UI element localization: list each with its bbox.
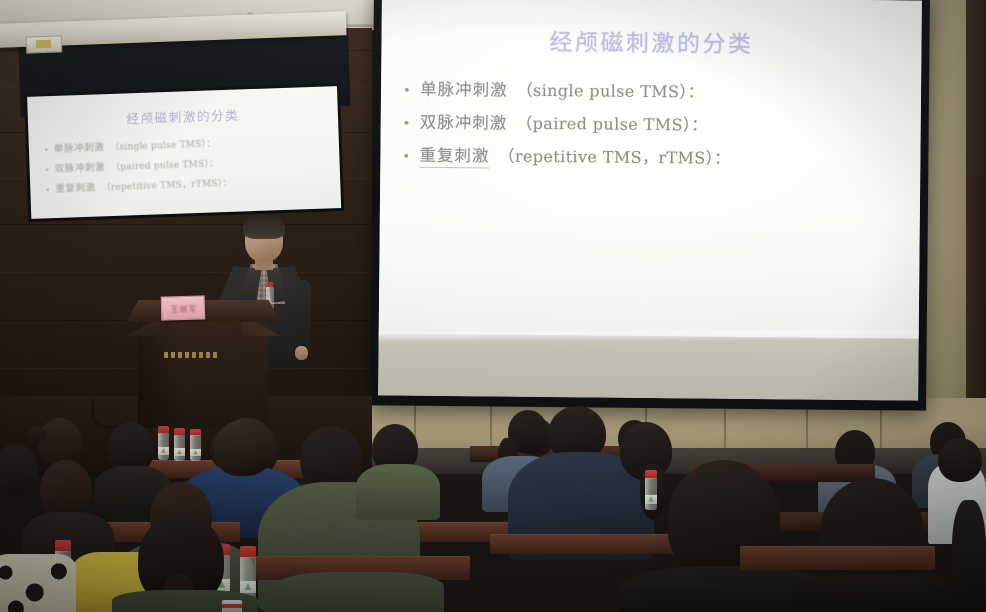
bullet-3-en: （repetitive TMS，rTMS）： [498, 143, 730, 169]
water-bottle [645, 470, 657, 510]
bullet-side-3-en: （repetitive TMS，rTMS）： [101, 176, 231, 194]
audience-body [952, 500, 986, 612]
slide-bullet-2: • 双脉冲刺激 （paired pulse TMS）： [403, 109, 903, 138]
bullet-marker: • [46, 165, 49, 174]
slide-content-main: 经颅磁刺激的分类 • 单脉冲刺激 （single pulse TMS）： • 双… [379, 0, 922, 349]
audience-area [0, 404, 986, 612]
slide-bullet-list: • 单脉冲刺激 （single pulse TMS）： • 双脉冲刺激 （pai… [402, 76, 903, 182]
audience-body [356, 464, 440, 520]
bullet-side-1-en: （single pulse TMS）： [110, 136, 215, 153]
audience-body-front-green [274, 572, 444, 612]
bullet-marker: • [45, 145, 48, 154]
slide-bullet-1: • 单脉冲刺激 （single pulse TMS）： [403, 76, 903, 105]
bullet-marker: • [402, 151, 410, 164]
lecture-hall-photo: 经颅磁刺激的分类 • 单脉冲刺激 （single pulse TMS）： • 双… [0, 0, 986, 612]
bullet-marker: • [46, 185, 49, 194]
water-bottle [174, 428, 185, 461]
audience-head [938, 438, 982, 482]
audience-body-foreground-woman [792, 574, 962, 612]
slide-title-side: 经颅磁刺激的分类 [28, 101, 338, 131]
bullet-marker: • [403, 85, 411, 98]
name-card-text: 王继军 [162, 303, 206, 315]
screen-unlit-band [378, 333, 919, 400]
bullet-side-1-cn: 单脉冲刺激 [54, 139, 105, 155]
bullet-marker: • [403, 118, 411, 131]
speaker-hair [243, 215, 285, 239]
desk-front-row-b [740, 546, 935, 570]
speaker-hand [295, 346, 308, 360]
audience-hair-bun [28, 426, 46, 442]
slide-bullet-3: • 重复刺激 （repetitive TMS，rTMS）： [402, 142, 902, 173]
bullet-2-cn: 双脉冲刺激 [420, 109, 508, 134]
audience-body-patterned-blouse [0, 554, 76, 612]
bullet-3-cn: 重复刺激 [419, 142, 489, 169]
desk-row-right [490, 534, 690, 554]
bullet-2-en: （paired pulse TMS）： [516, 110, 708, 136]
audience-head-blue-man [214, 420, 272, 476]
uniform-badge-stripe [222, 604, 242, 608]
bullet-side-2-cn: 双脉冲刺激 [54, 159, 105, 175]
podium-logo [164, 352, 218, 358]
bullet-side-2-en: （paired pulse TMS）： [111, 156, 219, 173]
audience-head [40, 460, 92, 520]
slide-bullet-list-side: • 单脉冲刺激 （single pulse TMS）： • 双脉冲刺激 （pai… [45, 131, 337, 201]
slide-bullet-side-3: • 重复刺激 （repetitive TMS，rTMS）： [46, 171, 336, 195]
speaker-name-card: 王继军 [161, 295, 206, 320]
bullet-1-cn: 单脉冲刺激 [420, 76, 508, 101]
screen-housing-label [36, 40, 51, 49]
bullet-side-3-cn: 重复刺激 [55, 180, 96, 195]
bullet-1-en: （single pulse TMS）： [517, 77, 705, 103]
audience-head [0, 444, 38, 496]
speaker-arm [293, 280, 311, 352]
main-projection-screen: 经颅磁刺激的分类 • 单脉冲刺激 （single pulse TMS）： • 双… [370, 0, 930, 411]
slide-title: 经颅磁刺激的分类 [381, 21, 921, 60]
side-projection-screen: 经颅磁刺激的分类 • 单脉冲刺激 （single pulse TMS）： • 双… [24, 83, 344, 222]
water-bottle [190, 429, 201, 461]
water-bottle [158, 426, 169, 460]
